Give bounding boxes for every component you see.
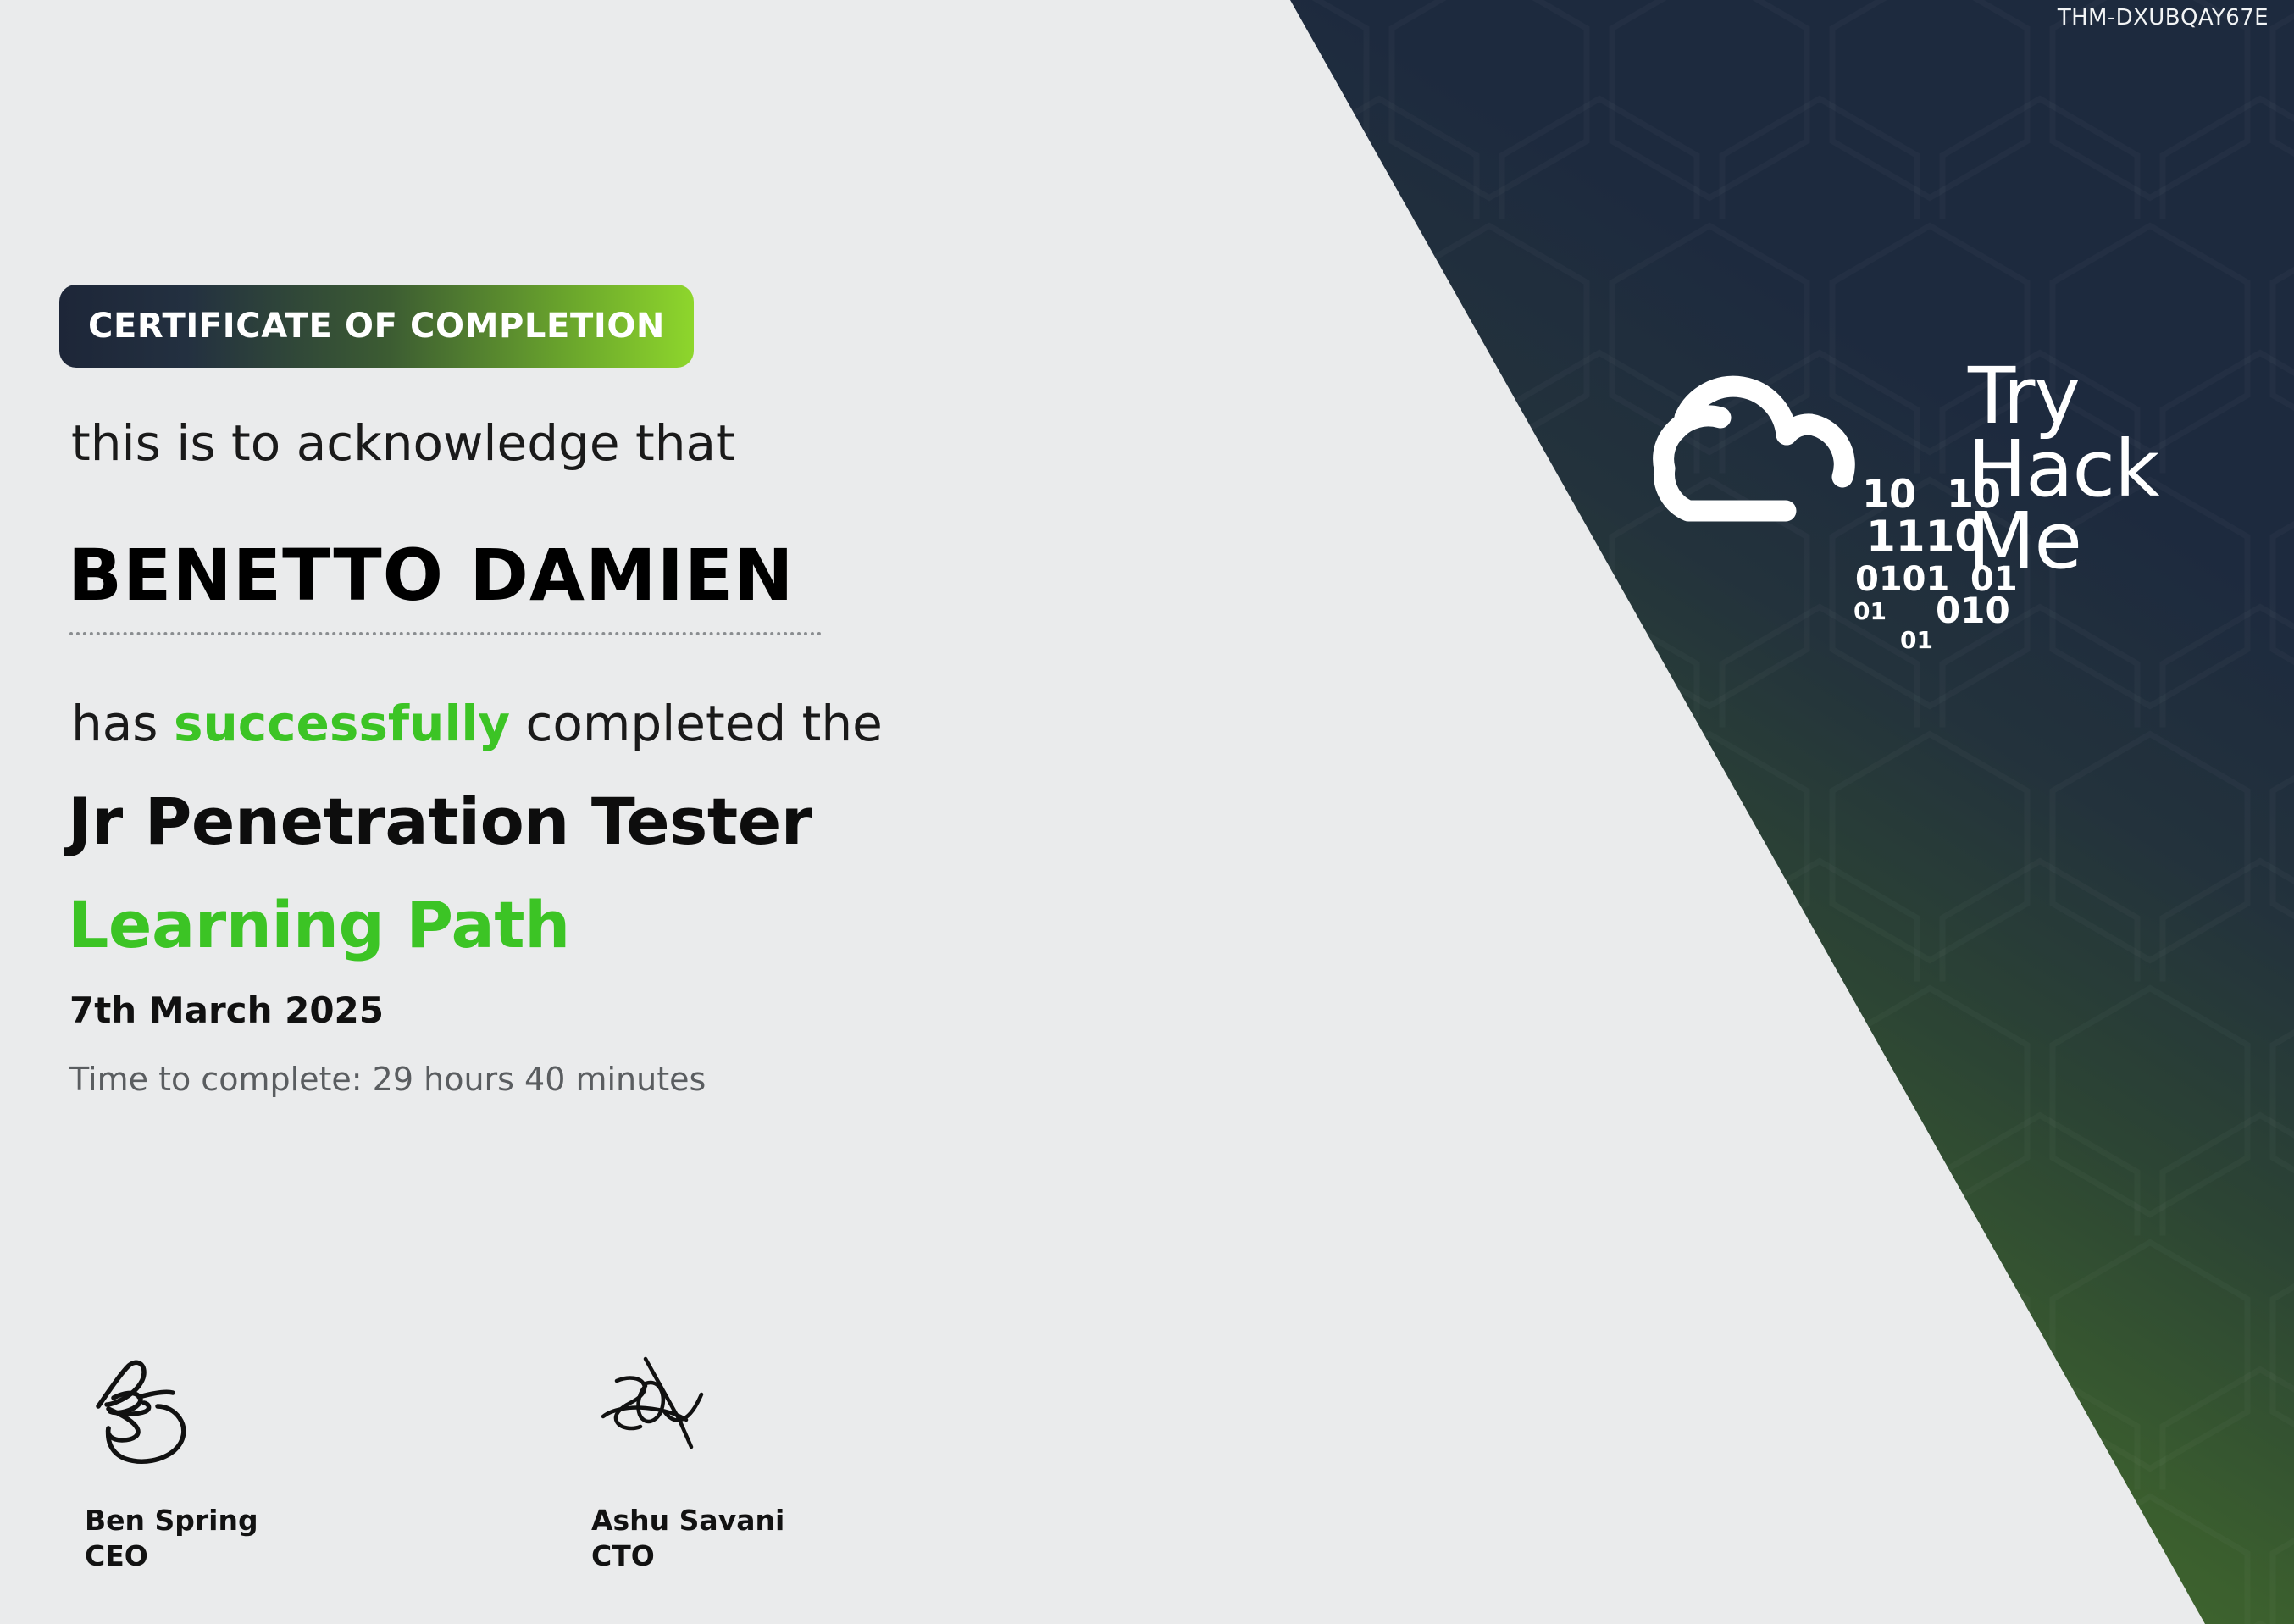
course-title-line-1: Jr Penetration Tester [68, 784, 812, 859]
signatory-role: CEO [85, 1538, 364, 1574]
binary-row2: 1110 [1866, 515, 1984, 557]
certificate-canvas: THM-DXUBQAY67E 10 10 1110 0101 01 01 010 [0, 0, 2294, 1624]
brand-wordmark-line-1: Try [1968, 360, 2158, 433]
completion-suffix: completed the [510, 695, 883, 752]
brand-wordmark-line-2: Hack [1968, 433, 2158, 506]
completion-highlight: successfully [174, 695, 510, 752]
course-title-line-2: Learning Path [68, 887, 570, 962]
binary-row4-left: 01 [1853, 600, 1887, 624]
signature-mark-icon [591, 1355, 786, 1491]
completion-date: 7th March 2025 [69, 989, 384, 1031]
certificate-content: CERTIFICATE OF COMPLETION this is to ack… [0, 0, 1271, 1624]
certificate-id: THM-DXUBQAY67E [2058, 5, 2269, 30]
recipient-name-rule [69, 632, 822, 635]
recipient-name: BENETTO DAMIEN [68, 534, 795, 617]
signature-block-cto: Ashu Savani CTO [591, 1355, 871, 1573]
signature-mark-icon [85, 1355, 280, 1491]
tryhackme-logo: 10 10 1110 0101 01 01 010 01 Try Hack Me [1629, 369, 2171, 597]
brand-panel [1193, 0, 2294, 1624]
binary-row5: 01 [1900, 629, 1933, 652]
completion-prefix: has [71, 695, 174, 752]
completion-statement: has successfully completed the [71, 695, 883, 752]
hexagon-pattern [1193, 0, 2294, 1624]
signatory-name: Ben Spring [85, 1503, 364, 1538]
acknowledgement-text: this is to acknowledge that [71, 414, 735, 472]
binary-row1-left: 10 [1862, 474, 1916, 513]
binary-row4-right: 010 [1936, 593, 2010, 629]
brand-wordmark: Try Hack Me [1968, 360, 2158, 578]
certificate-badge: CERTIFICATE OF COMPLETION [59, 285, 694, 368]
signature-row: Ben Spring CEO Ashu Savani [85, 1355, 871, 1573]
signature-block-ceo: Ben Spring CEO [85, 1355, 364, 1573]
signatory-name: Ashu Savani [591, 1503, 871, 1538]
brand-wordmark-line-3: Me [1968, 505, 2158, 578]
completion-duration: Time to complete: 29 hours 40 minutes [69, 1061, 706, 1098]
signatory-role: CTO [591, 1538, 871, 1574]
